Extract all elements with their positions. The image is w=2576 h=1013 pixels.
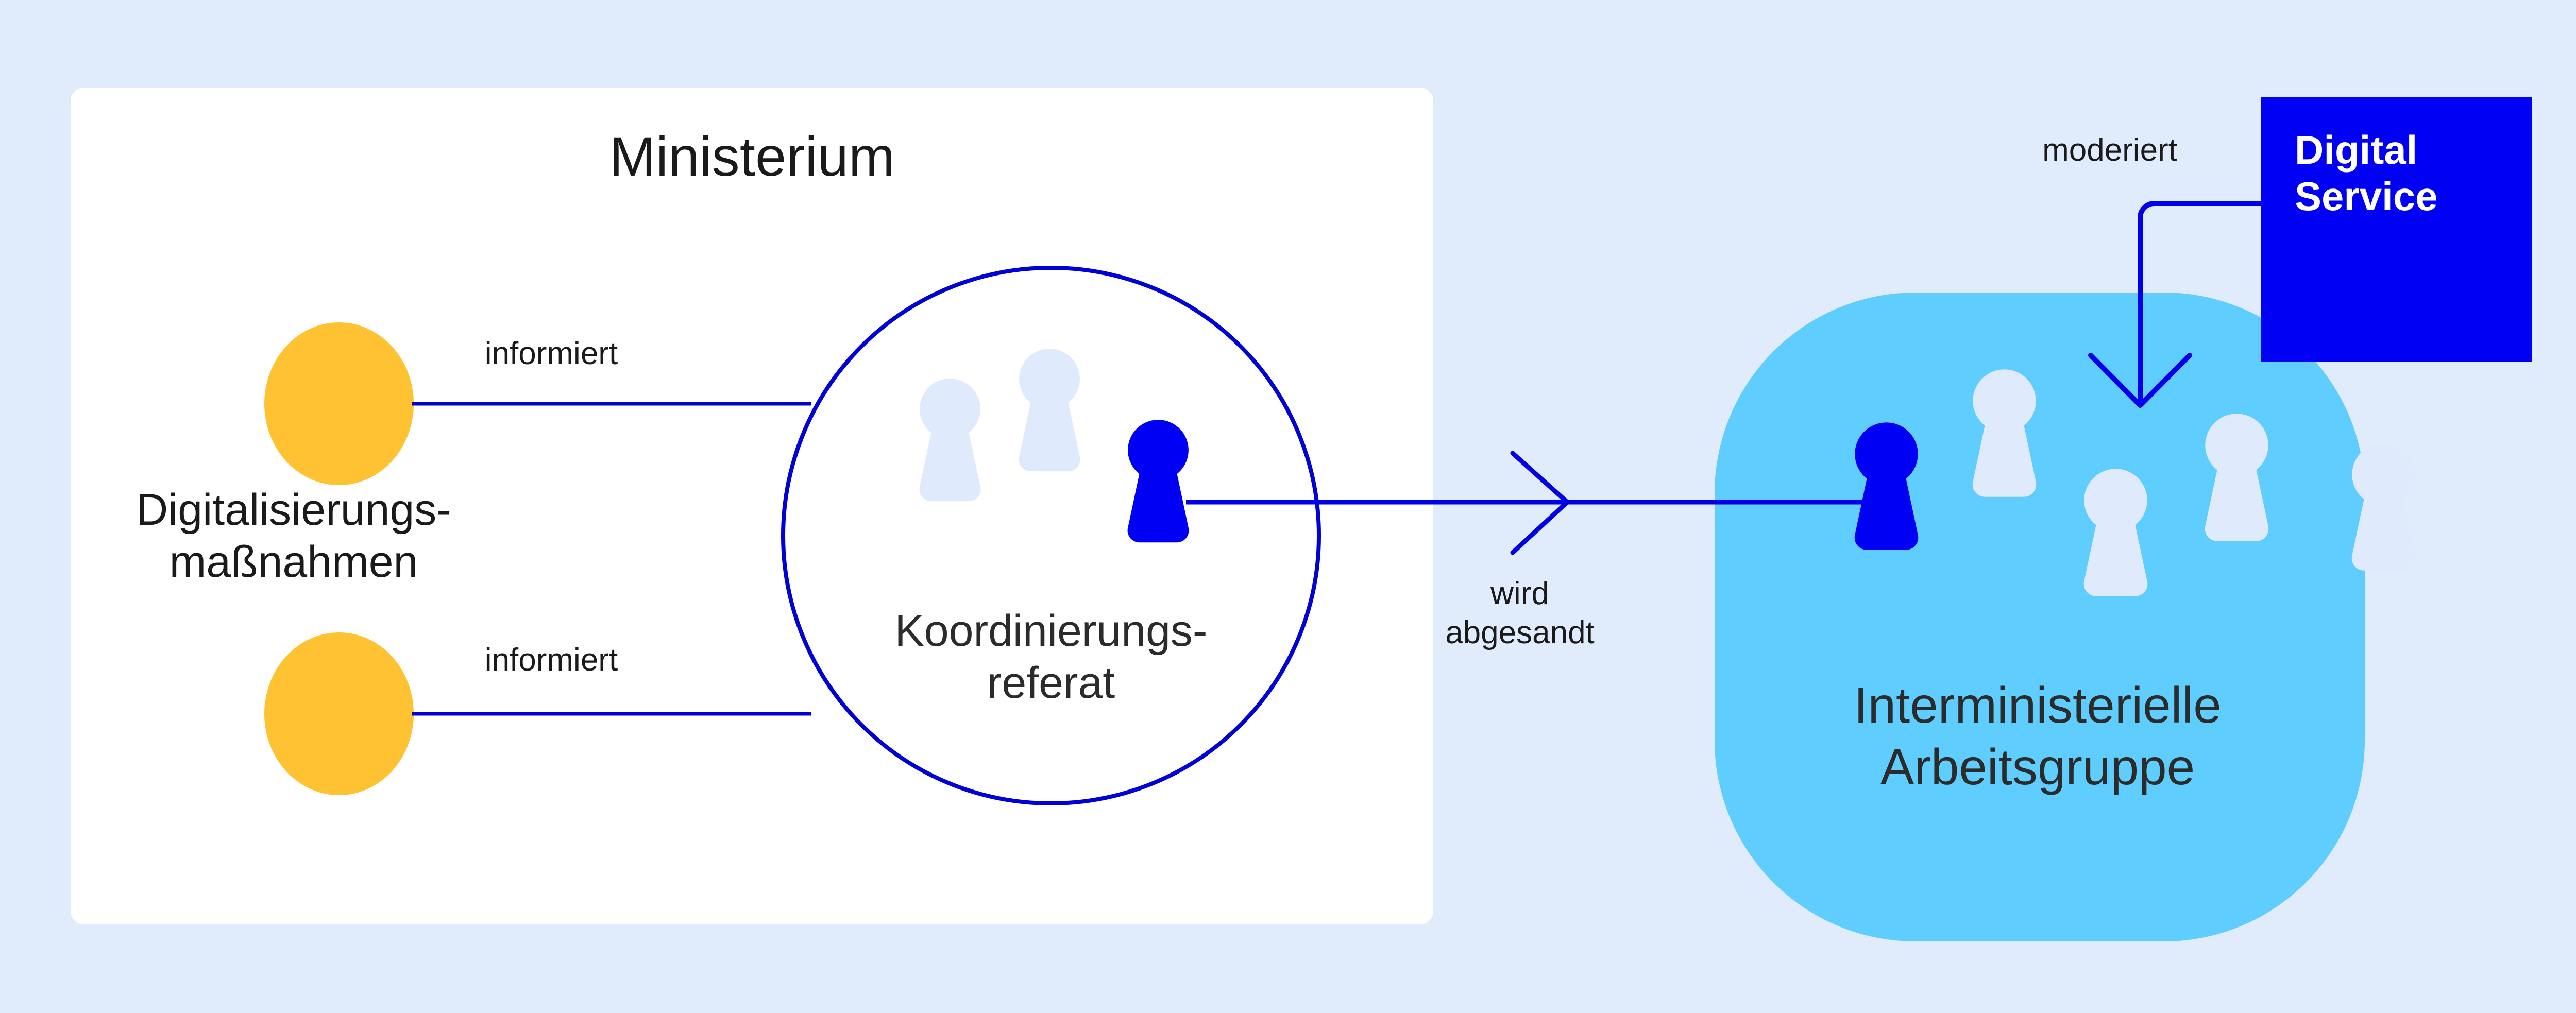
working-group-label-line-1: Interministerielle bbox=[1854, 677, 2221, 733]
coordination-unit-label: Koordinierungs-referat bbox=[773, 605, 1329, 710]
edge-label-informiert-bottom: informiert bbox=[407, 641, 696, 679]
edge-label-wird-abgesandt: wirdabgesandt bbox=[1386, 574, 1654, 652]
measures-label-line-2: maßnahmen bbox=[170, 537, 418, 587]
measure-node-top[interactable] bbox=[264, 322, 414, 485]
digital-service-line-1: Digital bbox=[2295, 127, 2417, 173]
measures-label-line-1: Digitalisierungs- bbox=[136, 485, 451, 535]
digital-service-logo[interactable]: DigitalService bbox=[2261, 97, 2532, 362]
edge-label-moderiert: moderiert bbox=[1999, 131, 2221, 169]
digital-service-line-2: Service bbox=[2295, 174, 2438, 219]
coordination-unit-label-line-1: Koordinierungs- bbox=[894, 606, 1207, 656]
working-group-blob bbox=[1715, 293, 2365, 941]
working-group-label: InterministerielleArbeitsgruppe bbox=[1721, 675, 2354, 798]
diagram-canvas: Ministerium Digitalisierungs-maßnahmen i… bbox=[0, 0, 2576, 1013]
edge-label-wird-abgesandt-line-1: wird bbox=[1490, 576, 1549, 611]
measure-node-bottom[interactable] bbox=[264, 632, 414, 795]
digital-service-logo-text: DigitalService bbox=[2295, 127, 2438, 220]
coordination-unit-label-line-2: referat bbox=[987, 658, 1115, 708]
measures-label: Digitalisierungs-maßnahmen bbox=[62, 484, 526, 589]
edge-label-informiert-top: informiert bbox=[407, 335, 696, 372]
working-group-label-line-2: Arbeitsgruppe bbox=[1880, 739, 2195, 795]
page-title: Ministerium bbox=[289, 124, 1216, 189]
edge-label-wird-abgesandt-line-2: abgesandt bbox=[1445, 615, 1595, 650]
